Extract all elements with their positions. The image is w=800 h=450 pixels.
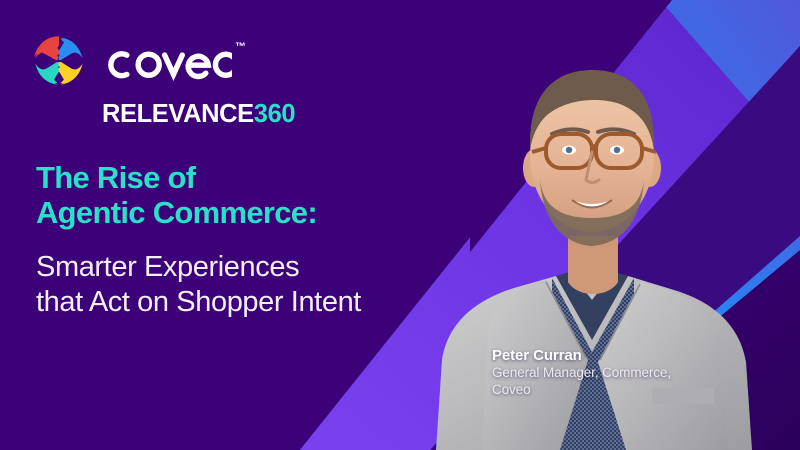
speaker-role-line-1: General Manager, Commerce, xyxy=(492,365,722,381)
trademark-symbol: ™ xyxy=(235,42,247,53)
brand-lockup[interactable]: ™ RELEVANCE360 xyxy=(28,28,298,132)
relevance360-lockup[interactable]: RELEVANCE360 xyxy=(102,98,298,132)
subheadline: Smarter Experiences that Act on Shopper … xyxy=(36,250,506,321)
headline-line-2: Agentic Commerce: xyxy=(36,195,496,230)
relevance-word: RELEVANCE xyxy=(102,100,254,128)
promo-banner: ™ RELEVANCE360 The Rise of Agentic Comme… xyxy=(0,0,800,450)
coveo-four-hands-logo-icon xyxy=(28,30,90,92)
subheadline-line-1: Smarter Experiences xyxy=(36,250,506,285)
relevance-360: 360 xyxy=(254,100,295,128)
headline-line-1: The Rise of xyxy=(36,160,496,195)
speaker-name: Peter Curran xyxy=(492,347,722,365)
coveo-wordmark: ™ xyxy=(104,40,247,82)
speaker-role-line-2: Coveo xyxy=(492,382,722,398)
headline: The Rise of Agentic Commerce: xyxy=(36,160,496,230)
subheadline-line-2: that Act on Shopper Intent xyxy=(36,285,506,320)
coveo-logo-row[interactable]: ™ xyxy=(28,28,298,94)
relevance360-text: RELEVANCE360 xyxy=(102,102,295,128)
speaker-caption: Peter Curran General Manager, Commerce, … xyxy=(492,347,722,398)
coveo-wordmark-svg xyxy=(104,40,232,82)
